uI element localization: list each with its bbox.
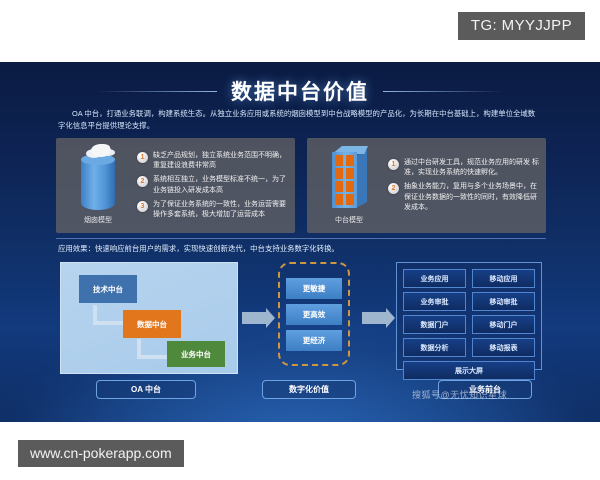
- chimney-bullet-list: 1 缺乏产品规划，独立系统业务范围不明确，重复建设浪费非常高 2 系统相互独立，…: [134, 151, 289, 220]
- building-side: [356, 150, 367, 208]
- bullet-text: 缺乏产品规划，独立系统业务范围不明确，重复建设浪费非常高: [153, 151, 289, 171]
- chimney-model-label: 烟囱模型: [84, 215, 112, 225]
- chimney-model-figure: 烟囱模型: [62, 146, 134, 225]
- app-cell: 移动报表: [472, 338, 535, 357]
- building-icon: [326, 146, 372, 212]
- window-tile: [346, 194, 354, 205]
- app-cell-display-screen: 展示大屏: [403, 361, 535, 380]
- model-panels: 烟囱模型 1 缺乏产品规划，独立系统业务范围不明确，重复建设浪费非常高 2 系统…: [56, 138, 546, 233]
- connector-elbow: [137, 339, 167, 359]
- app-cell: 移动应用: [472, 269, 535, 288]
- label-digital-value: 数字化价值: [262, 380, 356, 399]
- business-platform-box: 业务中台: [167, 341, 225, 367]
- window-tile: [335, 168, 343, 179]
- slide-subtitle: OA 中台，打通业务联调，构建系统生态。从独立业务应用或系统的烟囱模型到中台战略…: [58, 108, 542, 132]
- divider: [56, 238, 546, 239]
- flow-diagram: 技术中台 数据中台 业务中台 更敏捷 更高效 更经济 业务应用 移动应用 业务审…: [56, 260, 546, 378]
- title-row: 数据中台价值: [0, 76, 600, 106]
- window-tile: [346, 168, 354, 179]
- effect-text: 应用效果：快速响应前台用户的需求，实现快速创新迭代，中台支持业务数字化转换。: [58, 243, 339, 254]
- slide-screenshot: TG: MYYJJPP 数据中台价值 OA 中台，打通业务联调，构建系统生态。从…: [0, 0, 600, 480]
- frontend-app-grid: 业务应用 移动应用 业务审批 移动审批 数据门户 移动门户 数据分析 移动报表: [403, 269, 535, 357]
- bullet-number-badge: 1: [137, 152, 148, 163]
- source-watermark: 搜狐号@无忧知识星球: [412, 388, 507, 401]
- frontend-app-group: 业务应用 移动应用 业务审批 移动审批 数据门户 移动门户 数据分析 移动报表 …: [396, 262, 542, 370]
- value-item-economical: 更经济: [286, 330, 342, 351]
- connector-elbow: [93, 305, 123, 325]
- bullet-text: 抽象业务能力，复用与多个业务场景中，在保证业务数据的一致性的同时，有效降低研发成…: [404, 182, 540, 212]
- chimney-model-panel: 烟囱模型 1 缺乏产品规划，独立系统业务范围不明确，重复建设浪费非常高 2 系统…: [56, 138, 295, 233]
- app-cell: 移动审批: [472, 292, 535, 311]
- platform-model-panel: 中台模型 1 通过中台研发工具，规范业务应用的研发 标准，实现业务系统的快速孵化…: [307, 138, 546, 233]
- tech-platform-box: 技术中台: [79, 275, 137, 303]
- window-tile: [335, 194, 343, 205]
- bullet-number-badge: 2: [388, 183, 399, 194]
- bullet-number-badge: 1: [388, 159, 399, 170]
- page-title: 数据中台价值: [231, 76, 369, 106]
- tg-watermark-badge: TG: MYYJJPP: [458, 12, 585, 40]
- digital-value-group: 更敏捷 更高效 更经济: [278, 262, 350, 366]
- bullet-text: 通过中台研发工具，规范业务应用的研发 标准，实现业务系统的快速孵化。: [404, 158, 540, 178]
- building-facade: [332, 152, 357, 208]
- list-item: 1 缺乏产品规划，独立系统业务范围不明确，重复建设浪费非常高: [137, 151, 289, 171]
- data-platform-box: 数据中台: [123, 310, 181, 338]
- title-rule-left: [97, 91, 217, 92]
- flow-arrow-right: [362, 312, 386, 324]
- value-item-agile: 更敏捷: [286, 278, 342, 299]
- title-rule-right: [383, 91, 503, 92]
- app-cell: 移动门户: [472, 315, 535, 334]
- app-cell: 数据门户: [403, 315, 466, 334]
- slide-canvas: 数据中台价值 OA 中台，打通业务联调，构建系统生态。从独立业务应用或系统的烟囱…: [0, 62, 600, 422]
- app-cell: 业务审批: [403, 292, 466, 311]
- window-tile: [346, 155, 354, 166]
- list-item: 3 为了保证业务系统的一致性，业务运营需要操作多套系统，极大增加了运营成本: [137, 200, 289, 220]
- url-watermark-badge: www.cn-pokerapp.com: [18, 440, 184, 467]
- window-tile: [335, 181, 343, 192]
- window-tile: [346, 181, 354, 192]
- chimney-cylinder-icon: [78, 146, 118, 212]
- list-item: 2 抽象业务能力，复用与多个业务场景中，在保证业务数据的一致性的同时，有效降低研…: [388, 182, 540, 212]
- flow-arrow-left: [242, 312, 266, 324]
- platform-bullet-list: 1 通过中台研发工具，规范业务应用的研发 标准，实现业务系统的快速孵化。 2 抽…: [385, 158, 540, 213]
- bullet-text: 系统相互独立，业务模型标准不统一，为了业务链投入研发成本高: [153, 175, 289, 195]
- app-cell: 数据分析: [403, 338, 466, 357]
- bullet-text: 为了保证业务系统的一致性，业务运营需要操作多套系统，极大增加了运营成本: [153, 200, 289, 220]
- platform-model-figure: 中台模型: [313, 146, 385, 225]
- smoke-cloud-icon: [91, 144, 111, 157]
- label-oa-platform: OA 中台: [96, 380, 196, 399]
- oa-platform-group: 技术中台 数据中台 业务中台: [60, 262, 238, 374]
- bullet-number-badge: 2: [137, 176, 148, 187]
- platform-model-label: 中台模型: [335, 215, 363, 225]
- list-item: 2 系统相互独立，业务模型标准不统一，为了业务链投入研发成本高: [137, 175, 289, 195]
- bullet-number-badge: 3: [137, 201, 148, 212]
- list-item: 1 通过中台研发工具，规范业务应用的研发 标准，实现业务系统的快速孵化。: [388, 158, 540, 178]
- value-item-efficient: 更高效: [286, 304, 342, 325]
- app-cell: 业务应用: [403, 269, 466, 288]
- window-tile: [335, 155, 343, 166]
